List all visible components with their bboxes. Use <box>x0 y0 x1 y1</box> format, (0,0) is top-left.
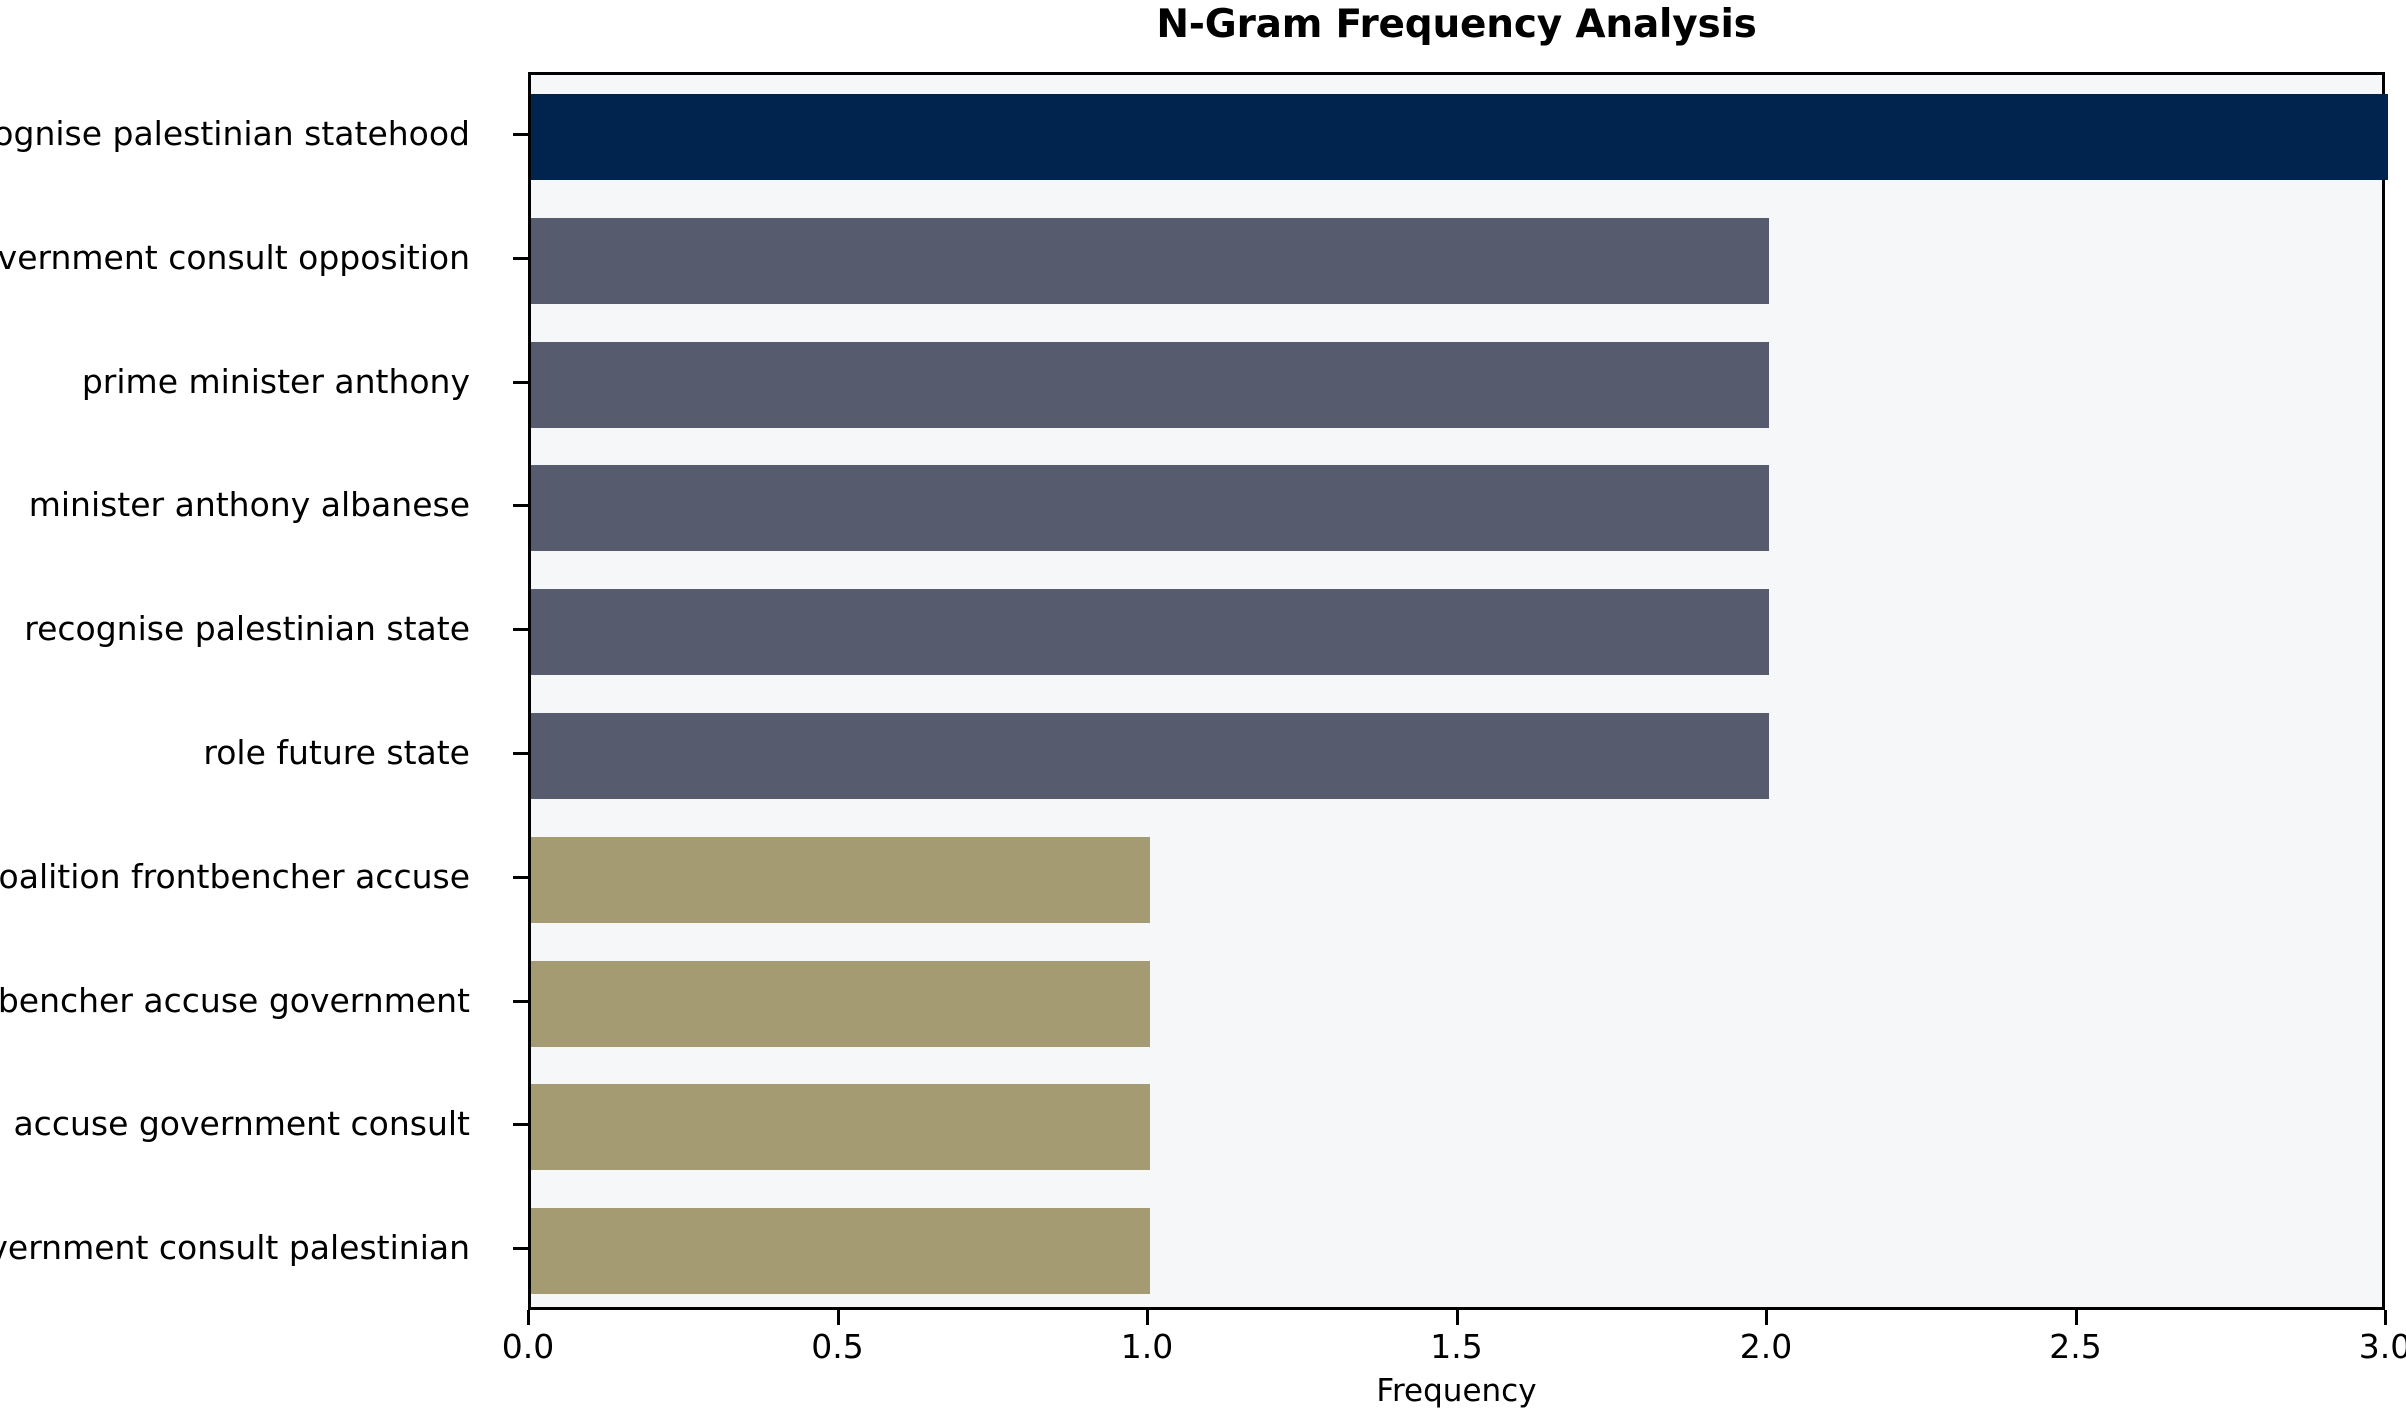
y-axis-tick-labels: recognise palestinian statehoodgovernmen… <box>0 72 500 1310</box>
y-axis-tick-mark <box>513 381 528 384</box>
y-axis-tick-mark <box>513 133 528 136</box>
bar <box>531 589 1769 675</box>
bar <box>531 218 1769 304</box>
x-axis-label: Frequency <box>528 1373 2385 1409</box>
y-axis-tick-label: recognise palestinian statehood <box>0 112 470 156</box>
bar <box>531 465 1769 551</box>
plot-area <box>528 72 2385 1310</box>
chart-figure: N-Gram Frequency Analysis recognise pale… <box>0 0 2406 1414</box>
x-axis-tick-mark <box>1765 1310 1768 1325</box>
y-axis-tick-label: role future state <box>203 731 470 775</box>
x-axis-tick-label: 2.5 <box>2006 1327 2146 1366</box>
y-axis-tick-mark <box>513 628 528 631</box>
x-axis-tick-label: 3.0 <box>2315 1327 2406 1366</box>
x-axis-tick-mark <box>1146 1310 1149 1325</box>
y-axis-tick-label: recognise palestinian state <box>24 607 470 651</box>
bar <box>531 837 1150 923</box>
y-axis-tick-mark <box>513 1000 528 1003</box>
y-axis-tick-mark <box>513 752 528 755</box>
y-axis-tick-mark <box>513 257 528 260</box>
bars-layer <box>531 75 2382 1307</box>
bar <box>531 94 2388 180</box>
x-axis-tick-label: 0.0 <box>458 1327 598 1366</box>
chart-title: N-Gram Frequency Analysis <box>528 2 2385 47</box>
y-axis-tick-mark <box>513 876 528 879</box>
bar <box>531 1084 1150 1170</box>
y-axis-tick-label: frontbencher accuse government <box>0 979 470 1023</box>
y-axis-tick-label: government consult palestinian <box>0 1226 470 1270</box>
x-axis-tick-label: 1.5 <box>1387 1327 1527 1366</box>
bar <box>531 342 1769 428</box>
y-axis-tick-label: coalition frontbencher accuse <box>0 855 470 899</box>
x-axis-tick-mark <box>837 1310 840 1325</box>
x-axis-tick-label: 0.5 <box>768 1327 908 1366</box>
y-axis-tick-label: prime minister anthony <box>82 360 470 404</box>
bar <box>531 713 1769 799</box>
y-axis-tick-mark <box>513 1123 528 1126</box>
y-axis-tick-label: accuse government consult <box>13 1102 470 1146</box>
y-axis-tick-label: minister anthony albanese <box>29 483 470 527</box>
bar <box>531 1208 1150 1294</box>
x-axis-tick-mark <box>1456 1310 1459 1325</box>
x-axis-tick-mark <box>2384 1310 2387 1325</box>
x-axis-tick-label: 1.0 <box>1077 1327 1217 1366</box>
y-axis-tick-mark <box>513 504 528 507</box>
y-axis-tick-label: government consult opposition <box>0 236 470 280</box>
x-axis-tick-label: 2.0 <box>1696 1327 1836 1366</box>
x-axis-tick-mark <box>527 1310 530 1325</box>
x-axis-tick-mark <box>2075 1310 2078 1325</box>
bar <box>531 961 1150 1047</box>
y-axis-tick-mark <box>513 1247 528 1250</box>
